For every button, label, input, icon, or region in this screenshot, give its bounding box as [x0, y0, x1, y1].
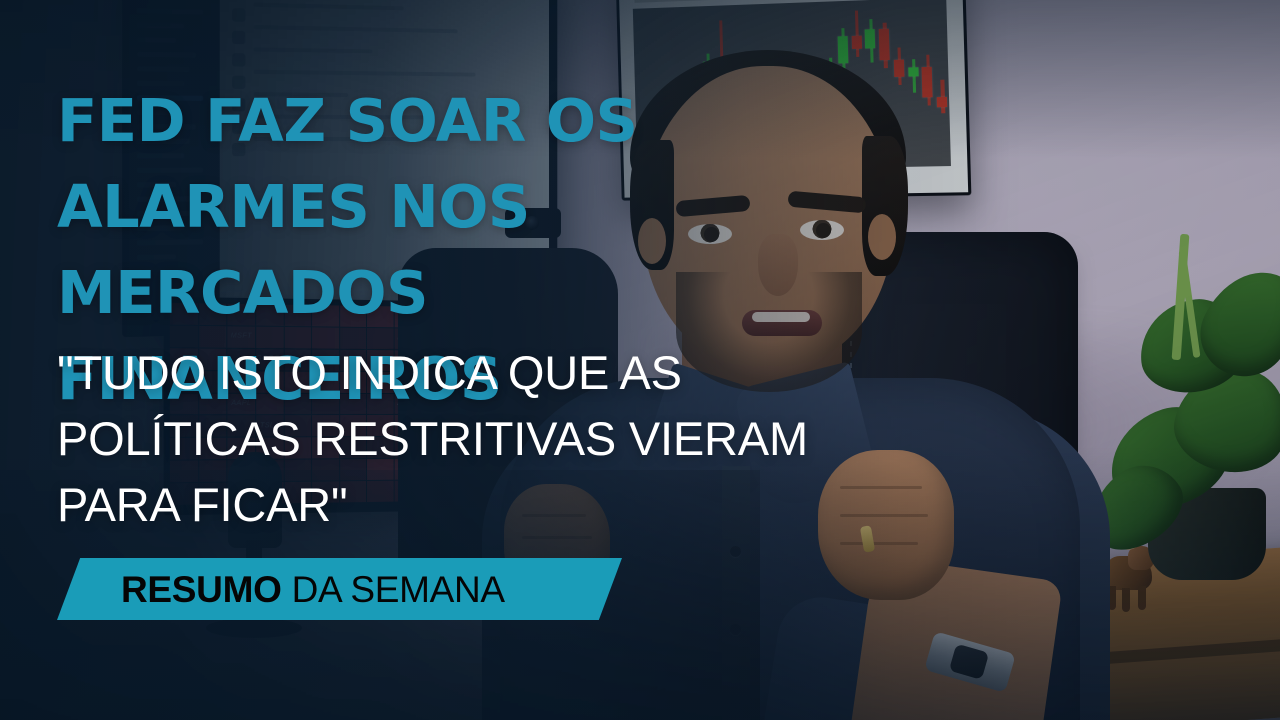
thumbnail-canvas: MSFTNVDAGOOGLAAPLAMZNTSLAMETA [0, 0, 1280, 720]
series-badge-label: RESUMO DA SEMANA [121, 571, 505, 608]
series-badge: RESUMO DA SEMANA [57, 558, 622, 620]
subheadline-quote: "TUDO ISTO INDICA QUE AS POLÍTICAS RESTR… [57, 340, 817, 538]
series-badge-light: DA SEMANA [282, 569, 505, 610]
series-badge-bold: RESUMO [121, 569, 282, 610]
text-overlay-block: FED FAZ SOAR OS ALARMES NOS MERCADOS FIN… [0, 0, 900, 720]
